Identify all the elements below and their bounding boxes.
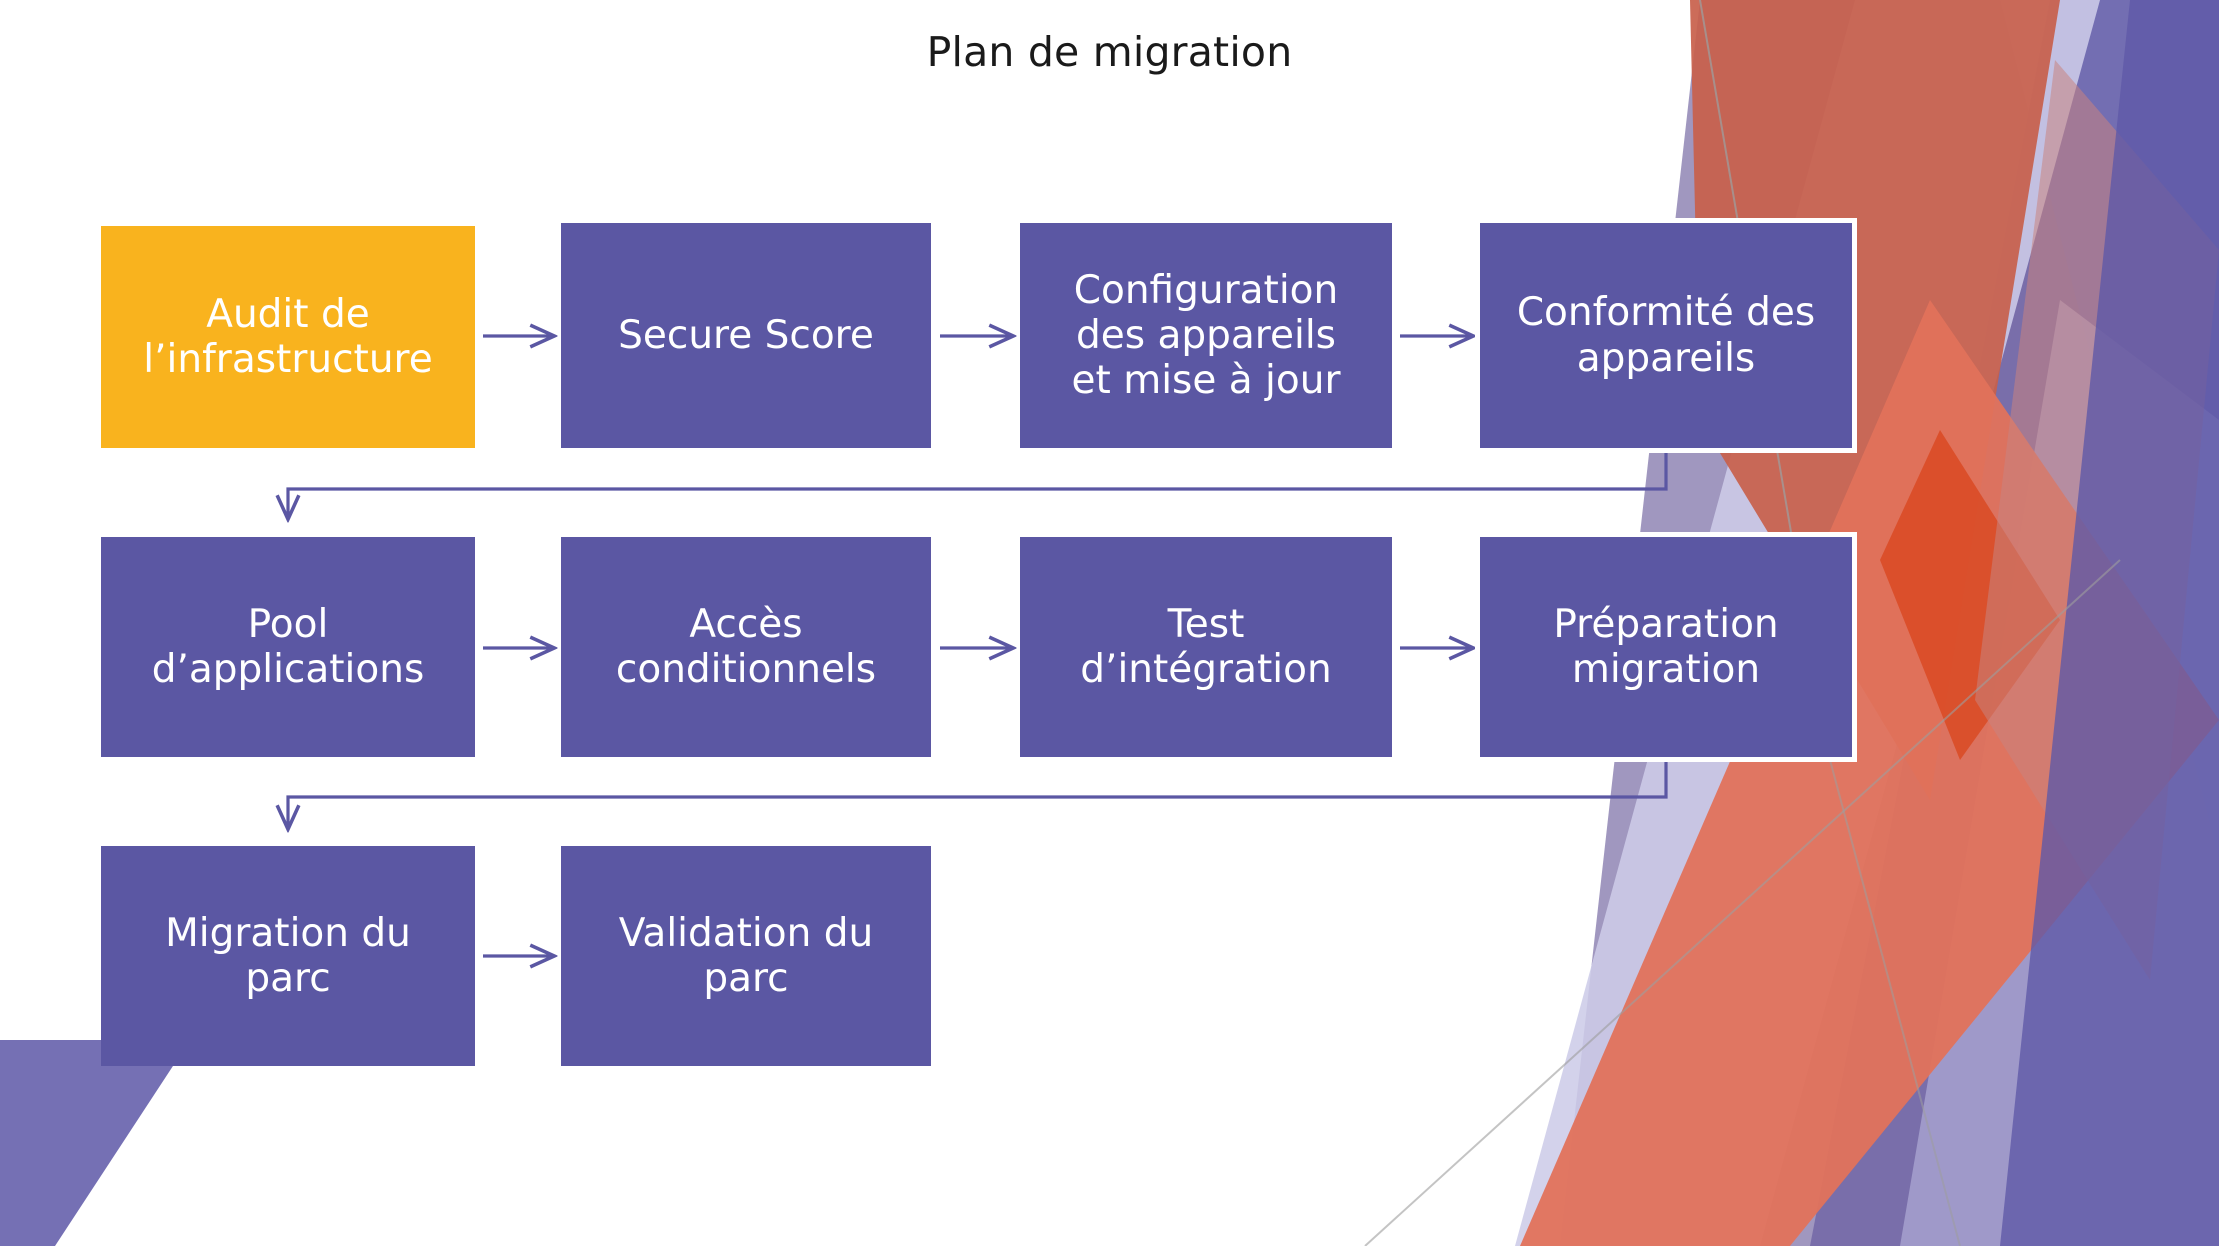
flow-step-preparation-migration[interactable]: Préparation migration [1480,537,1852,757]
flow-step-label: Migration du parc [165,911,411,1001]
arrow-conformite-to-pool [288,450,1666,518]
decor-hairline-3 [1830,760,1960,1246]
flow-step-label: Conformité des appareils [1517,290,1815,380]
decor-wedge-coral-dark [1880,430,2060,760]
flow-step-audit[interactable]: Audit de l’infrastructure [101,226,475,448]
decor-band-lavender-2 [1900,300,2219,1246]
flow-step-acces-conditionnels[interactable]: Accès conditionnels [561,537,931,757]
flow-step-migration-parc[interactable]: Migration du parc [101,846,475,1066]
flow-step-label: Secure Score [618,313,874,358]
flow-step-configuration-appareils[interactable]: Configuration des appareils et mise à jo… [1020,223,1392,448]
flow-step-secure-score[interactable]: Secure Score [561,223,931,448]
flow-step-label: Validation du parc [619,911,873,1001]
flow-step-conformite-appareils[interactable]: Conformité des appareils [1480,223,1852,448]
decor-edge-indigo [2000,0,2219,1246]
flow-step-label: Configuration des appareils et mise à jo… [1072,268,1341,404]
flow-step-test-integration[interactable]: Test d’intégration [1020,537,1392,757]
flow-step-label: Pool d’applications [152,602,425,692]
decor-slab-purple-far-right [1810,0,2219,1246]
flow-step-validation-parc[interactable]: Validation du parc [561,846,931,1066]
flow-step-label: Accès conditionnels [616,602,876,692]
flow-step-label: Audit de l’infrastructure [143,292,432,382]
flow-step-pool-applications[interactable]: Pool d’applications [101,537,475,757]
decor-wedge-bottom-left [0,1040,190,1246]
presentation-slide: Plan de migration Audit de l’infrastruct… [0,0,2219,1246]
decor-overlay-rose [1975,60,2219,980]
flow-step-label: Préparation migration [1553,602,1778,692]
flow-step-label: Test d’intégration [1080,602,1331,692]
arrow-preparation-to-migration [288,758,1666,828]
page-title: Plan de migration [0,28,2219,76]
